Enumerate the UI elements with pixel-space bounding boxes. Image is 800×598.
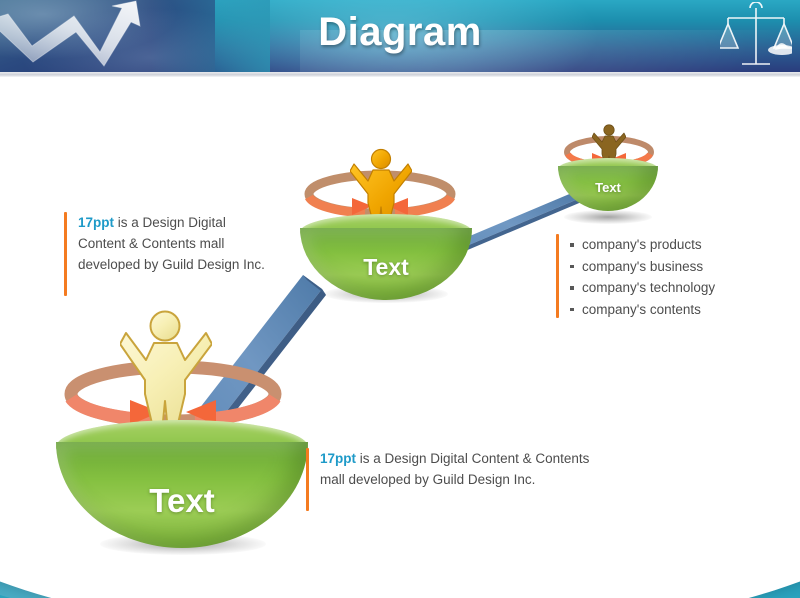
node-label: Text — [300, 254, 472, 281]
slide-canvas: Diagram — [0, 0, 800, 598]
bullet-list-block: company's products company's business co… — [556, 234, 771, 320]
list-item: company's contents — [570, 299, 771, 321]
node-small[interactable]: Text — [540, 118, 670, 228]
bowl-shadow — [564, 210, 652, 224]
bullet-list: company's products company's business co… — [556, 234, 771, 320]
person-figure-icon — [120, 306, 212, 438]
text-block-left: 17ppt is a Design Digital Content & Cont… — [64, 212, 274, 275]
brand-label: 17ppt — [320, 451, 356, 466]
node-large[interactable]: Text — [38, 300, 328, 560]
node-label: Text — [558, 180, 658, 195]
text-block-bottom-text: is a Design Digital Content & Contents m… — [320, 451, 589, 487]
text-block-bottom: 17ppt is a Design Digital Content & Cont… — [306, 448, 596, 490]
brand-label: 17ppt — [78, 215, 114, 230]
text-block-bottom-body: 17ppt is a Design Digital Content & Cont… — [320, 448, 596, 490]
node-label: Text — [56, 482, 308, 520]
accent-bar — [306, 448, 309, 511]
accent-bar — [64, 212, 67, 296]
text-block-left-body: 17ppt is a Design Digital Content & Cont… — [78, 212, 274, 275]
list-item: company's products — [570, 234, 771, 256]
node-medium[interactable]: Text — [282, 142, 482, 312]
list-item: company's business — [570, 256, 771, 278]
list-item: company's technology — [570, 277, 771, 299]
